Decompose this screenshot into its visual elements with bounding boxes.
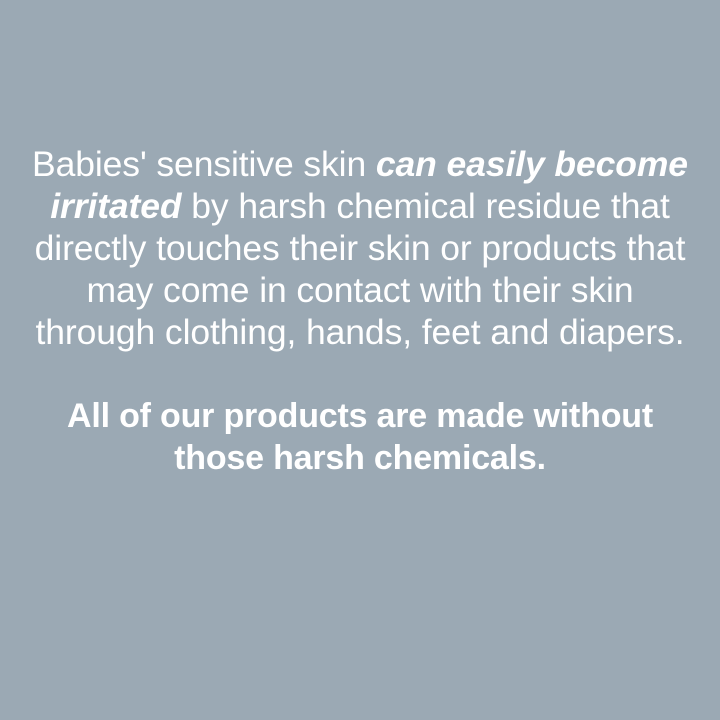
closing-statement: All of our products are made without tho… [30, 395, 690, 479]
promotional-text-slide: Babies' sensitive skin can easily become… [0, 0, 720, 720]
text-content-block: Babies' sensitive skin can easily become… [30, 143, 690, 479]
paragraph-spacer [30, 353, 690, 395]
body-paragraph-lead: Babies' sensitive skin [32, 144, 376, 184]
body-paragraph: Babies' sensitive skin can easily become… [30, 143, 690, 353]
